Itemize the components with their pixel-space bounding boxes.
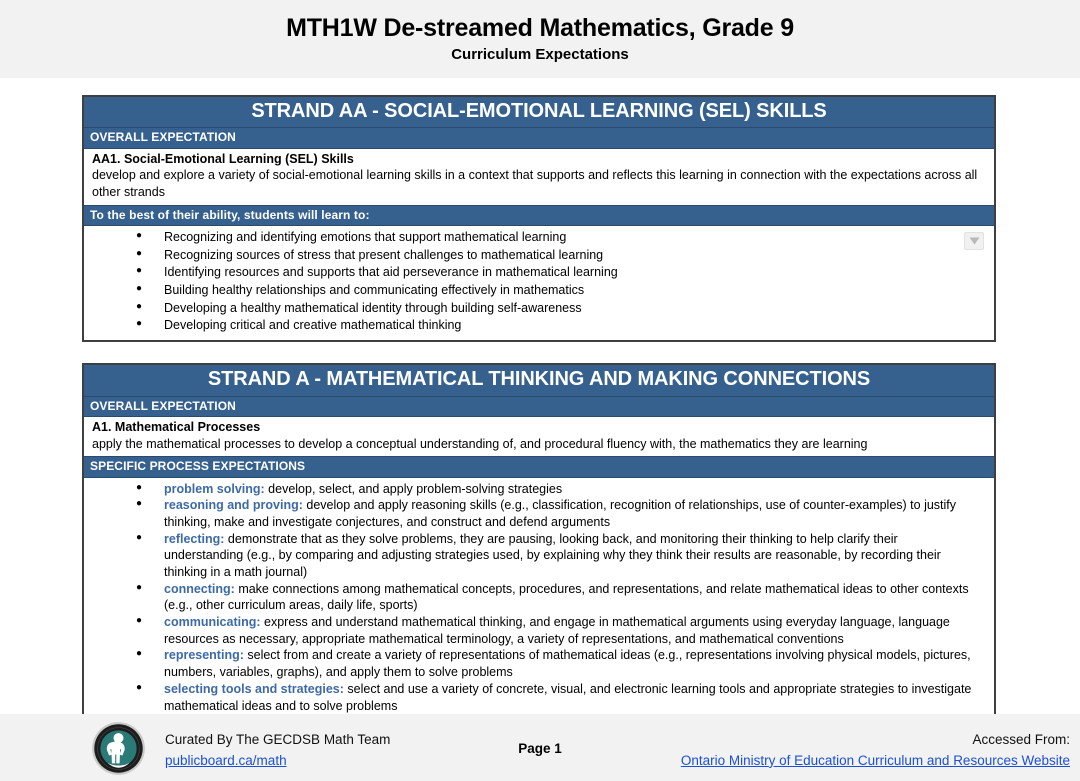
- list-item: Developing a healthy mathematical identi…: [136, 300, 984, 317]
- document-footer: Curated By The GECDSB Math Team publicbo…: [0, 714, 1080, 781]
- footer-source-block: Accessed From: Ontario Ministry of Educa…: [681, 731, 1070, 772]
- list-item: Developing critical and creative mathema…: [136, 317, 984, 334]
- process-text: make connections among mathematical conc…: [164, 582, 969, 613]
- document-page: MTH1W De-streamed Mathematics, Grade 9 C…: [0, 0, 1080, 781]
- strand-aa-list-label-bar: To the best of their ability, students w…: [84, 205, 994, 226]
- strand-aa-title: STRAND AA - SOCIAL-EMOTIONAL LEARNING (S…: [84, 97, 994, 128]
- strand-aa-list-wrap: Recognizing and identifying emotions tha…: [84, 226, 994, 340]
- list-item: selecting tools and strategies: select a…: [136, 681, 980, 714]
- page-subtitle: Curriculum Expectations: [451, 47, 629, 64]
- process-lead-term: reasoning and proving:: [164, 498, 303, 512]
- strand-a1-description: apply the mathematical processes to deve…: [92, 436, 986, 453]
- strand-aa-code: AA1. Social-Emotional Learning (SEL) Ski…: [92, 151, 986, 168]
- process-lead-term: problem solving:: [164, 482, 265, 496]
- list-item: Recognizing and identifying emotions tha…: [136, 229, 984, 246]
- strand-a1-overall-expectation-bar: OVERALL EXPECTATION: [84, 397, 994, 417]
- process-lead-term: communicating:: [164, 615, 261, 629]
- list-item: Building healthy relationships and commu…: [136, 282, 984, 299]
- list-item: problem solving: develop, select, and ap…: [136, 481, 980, 498]
- chevron-down-icon[interactable]: [964, 232, 984, 250]
- process-lead-term: representing:: [164, 648, 244, 662]
- strand-aa-description: develop and explore a variety of social-…: [92, 167, 986, 200]
- process-text: express and understand mathematical thin…: [164, 615, 950, 646]
- strand-aa-overall-expectation-bar: OVERALL EXPECTATION: [84, 128, 994, 148]
- process-text: select from and create a variety of repr…: [164, 648, 971, 679]
- specific-process-expectations-bar: SPECIFIC PROCESS EXPECTATIONS: [84, 456, 994, 477]
- process-lead-term: reflecting:: [164, 532, 224, 546]
- strand-a1-code: A1. Mathematical Processes: [92, 419, 986, 436]
- process-text: demonstrate that as they solve problems,…: [164, 532, 941, 579]
- strand-aa-skill-list: Recognizing and identifying emotions tha…: [84, 226, 994, 340]
- page-title: MTH1W De-streamed Mathematics, Grade 9: [286, 15, 794, 43]
- strand-a-title: STRAND A - MATHEMATICAL THINKING AND MAK…: [84, 365, 994, 396]
- strand-aa-overall-expectation-cell: AA1. Social-Emotional Learning (SEL) Ski…: [84, 149, 994, 205]
- specific-process-list: problem solving: develop, select, and ap…: [84, 478, 994, 719]
- process-lead-term: selecting tools and strategies:: [164, 682, 344, 696]
- footer-inner: Curated By The GECDSB Math Team publicbo…: [0, 714, 1080, 781]
- list-item: Recognizing sources of stress that prese…: [136, 247, 984, 264]
- list-item: Identifying resources and supports that …: [136, 264, 984, 281]
- list-item: reflecting: demonstrate that as they sol…: [136, 531, 980, 581]
- content-area: STRAND AA - SOCIAL-EMOTIONAL LEARNING (S…: [82, 95, 996, 781]
- process-text: develop, select, and apply problem-solvi…: [265, 482, 562, 496]
- strand-a1-overall-expectation-cell: A1. Mathematical Processes apply the mat…: [84, 417, 994, 456]
- strand-aa-table: STRAND AA - SOCIAL-EMOTIONAL LEARNING (S…: [82, 95, 996, 342]
- accessed-from-label: Accessed From:: [681, 731, 1070, 750]
- process-lead-term: connecting:: [164, 582, 235, 596]
- document-header: MTH1W De-streamed Mathematics, Grade 9 C…: [0, 0, 1080, 78]
- ontario-ministry-link[interactable]: Ontario Ministry of Education Curriculum…: [681, 752, 1070, 771]
- list-item: representing: select from and create a v…: [136, 647, 980, 680]
- list-item: reasoning and proving: develop and apply…: [136, 497, 980, 530]
- list-item: connecting: make connections among mathe…: [136, 581, 980, 614]
- list-item: communicating: express and understand ma…: [136, 614, 980, 647]
